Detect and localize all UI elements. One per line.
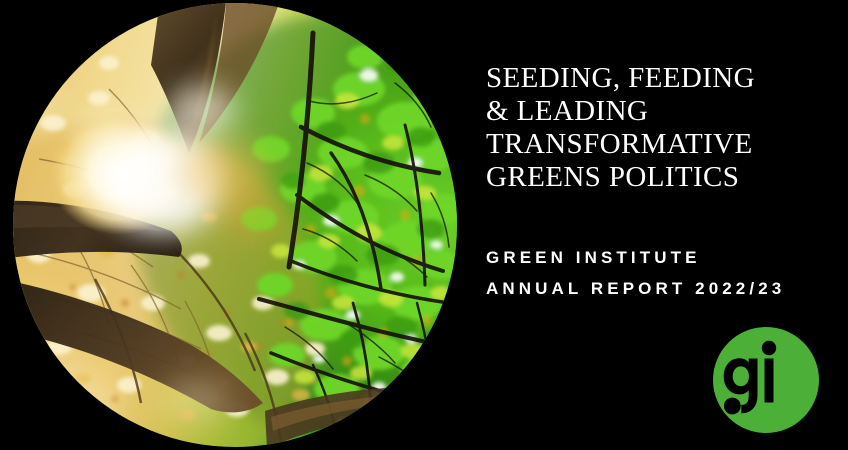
gi-logo: [713, 327, 819, 433]
title-line-3: TRANSFORMATIVE: [486, 128, 836, 161]
title-line-2: & LEADING: [486, 95, 836, 128]
title-line-1: SEEDING, FEEDING: [486, 62, 836, 95]
canopy-illustration: [13, 3, 457, 447]
gi-logo-mark: [713, 327, 819, 433]
tree-canopy-photo: [13, 3, 457, 447]
page-title: SEEDING, FEEDING & LEADING TRANSFORMATIV…: [486, 62, 836, 194]
report-period-line: ANNUAL REPORT 2022/23: [486, 273, 836, 304]
report-cover: SEEDING, FEEDING & LEADING TRANSFORMATIV…: [0, 0, 848, 450]
report-subtitle: GREEN INSTITUTE ANNUAL REPORT 2022/23: [486, 242, 836, 304]
organisation-name: GREEN INSTITUTE: [486, 242, 836, 273]
title-line-4: GREENS POLITICS: [486, 161, 836, 194]
